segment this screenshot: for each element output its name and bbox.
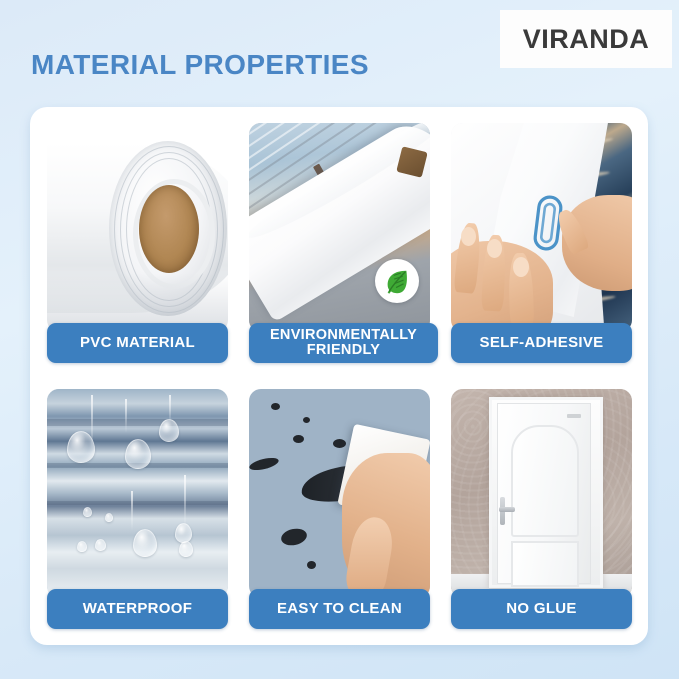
water-droplet (133, 529, 157, 557)
leaf-icon (375, 259, 419, 303)
card-label-text: EASY TO CLEAN (277, 601, 402, 616)
water-droplet (125, 439, 151, 469)
card-label-text: PVC MATERIAL (80, 335, 195, 350)
card-label-no-glue: NO GLUE (451, 589, 632, 629)
thumb (343, 514, 396, 598)
water-droplet (95, 539, 106, 551)
fingernail (513, 257, 529, 277)
waterproof-image (47, 389, 228, 598)
card-label-text-line1: ENVIRONMENTALLY (270, 328, 417, 343)
water-droplet (175, 523, 192, 543)
self-adhesive-image (451, 123, 632, 332)
stain-spot (333, 439, 346, 448)
card-label-text: WATERPROOF (83, 601, 192, 616)
brand-logo-plate: VIRANDA (500, 10, 672, 68)
page-title: MATERIAL PROPERTIES (31, 49, 369, 81)
water-droplet (67, 431, 95, 463)
door-handle (499, 507, 515, 512)
stain-spot (271, 403, 280, 410)
stain-spot (307, 561, 316, 569)
no-glue-image (451, 389, 632, 598)
marble-band (47, 501, 228, 505)
card-label-text: SELF-ADHESIVE (480, 335, 604, 350)
feature-card-environmentally-friendly[interactable]: ENVIRONMENTALLY FRIENDLY (249, 123, 430, 363)
door-panel-top (511, 425, 579, 537)
water-droplet (179, 541, 193, 557)
brand-name: VIRANDA (523, 24, 650, 55)
feature-card-grid: PVC MATERIAL (47, 123, 632, 629)
feature-card-pvc-material[interactable]: PVC MATERIAL (47, 123, 228, 363)
water-droplet (159, 419, 179, 442)
marble-band (47, 419, 228, 426)
fingernail (461, 227, 476, 246)
card-label-easy-to-clean: EASY TO CLEAN (249, 589, 430, 629)
water-droplet (77, 541, 87, 552)
door-panel-bottom (511, 541, 579, 587)
water-droplet (105, 513, 113, 522)
card-label-waterproof: WATERPROOF (47, 589, 228, 629)
card-label-pvc-material: PVC MATERIAL (47, 323, 228, 363)
card-label-text: NO GLUE (506, 601, 576, 616)
card-label-environmentally-friendly: ENVIRONMENTALLY FRIENDLY (249, 323, 438, 363)
feature-card-waterproof[interactable]: WATERPROOF (47, 389, 228, 629)
droplet-trail (131, 491, 133, 531)
pvc-material-image (47, 123, 228, 332)
stain-spot (303, 417, 310, 423)
stain-spot (293, 435, 304, 443)
feature-card-no-glue[interactable]: NO GLUE (451, 389, 632, 629)
feature-card-easy-to-clean[interactable]: EASY TO CLEAN (249, 389, 430, 629)
droplet-trail (125, 399, 127, 433)
environmentally-friendly-image (249, 123, 430, 332)
droplet-trail (184, 475, 186, 529)
hand-holding-cloth (342, 453, 430, 598)
door-hinge (567, 414, 581, 418)
water-droplet (83, 507, 92, 517)
card-label-text-line2: FRIENDLY (270, 343, 417, 358)
feature-card-self-adhesive[interactable]: SELF-ADHESIVE (451, 123, 632, 363)
easy-to-clean-image (249, 389, 430, 598)
fingernail (487, 239, 502, 258)
card-label-self-adhesive: SELF-ADHESIVE (451, 323, 632, 363)
roll-cardboard-core (139, 185, 199, 273)
